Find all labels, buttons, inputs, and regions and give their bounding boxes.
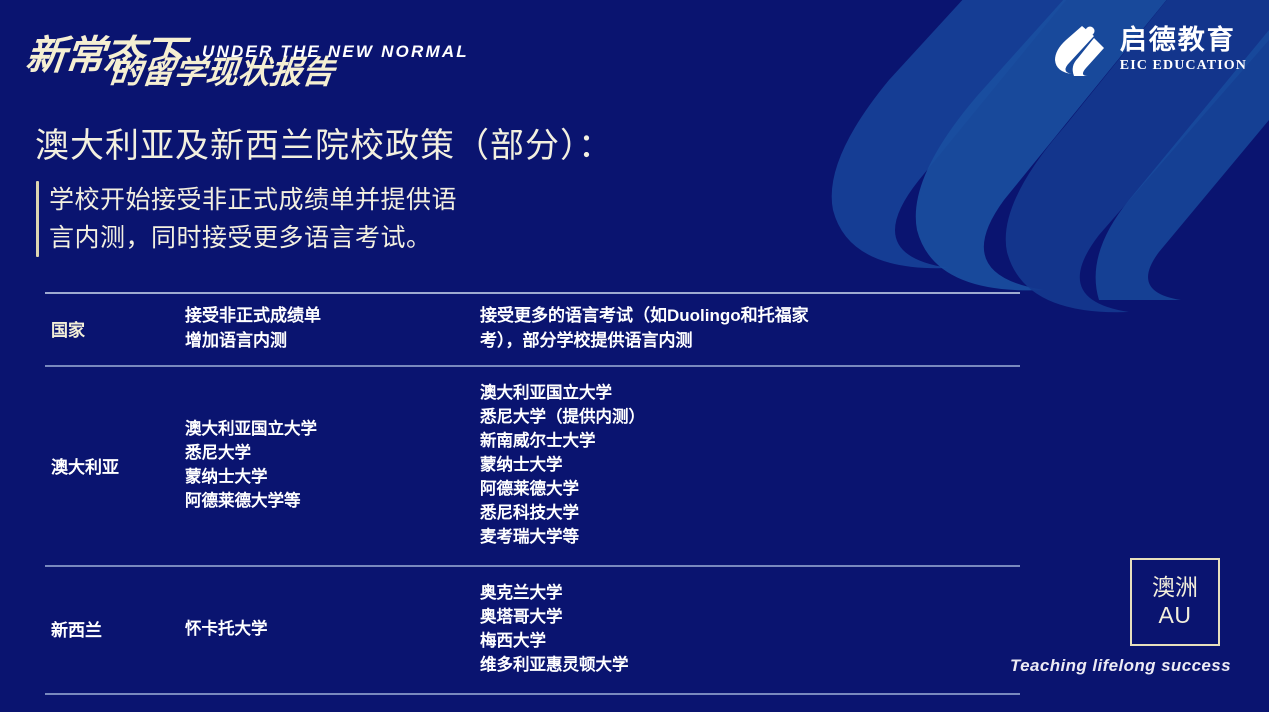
list-item: 维多利亚惠灵顿大学	[480, 653, 1020, 677]
table-rule-bottom	[45, 693, 1020, 695]
page-title: 澳大利亚及新西兰院校政策（部分）：	[35, 118, 613, 167]
brand-logo: 启德教育 EIC EDUCATION	[1052, 22, 1247, 78]
list-item: 奥克兰大学	[480, 581, 1020, 605]
list-item: 麦考瑞大学等	[480, 525, 1020, 549]
table-row: 澳大利亚 澳大利亚国立大学 悉尼大学 蒙纳士大学 阿德莱德大学等 澳大利亚国立大…	[45, 367, 1020, 566]
column-header-informal-transcripts-line2: 增加语言内测	[185, 329, 480, 354]
column-header-informal-transcripts-line1: 接受非正式成绩单	[185, 304, 480, 329]
brand-name-zh: 启德教育	[1120, 27, 1236, 54]
list-item: 澳大利亚国立大学	[480, 381, 1020, 405]
column-header-more-tests: 接受更多的语言考试（如Duolingo和托福家 考），部分学校提供语言内测	[480, 304, 1020, 353]
region-badge-label-en: AU	[1159, 602, 1192, 628]
subtitle-text: 学校开始接受非正式成绩单并提供语 言内测，同时接受更多语言考试。	[49, 181, 457, 257]
cell-informal-transcripts: 怀卡托大学	[185, 617, 480, 641]
banner-en-subtitle: UNDER THE NEW NORMAL	[202, 42, 469, 62]
subtitle-accent-bar	[36, 181, 39, 257]
list-item: 蒙纳士大学	[185, 465, 480, 489]
list-item: 梅西大学	[480, 629, 1020, 653]
cell-country: 新西兰	[45, 616, 185, 641]
column-header-country: 国家	[45, 316, 185, 341]
table-rule-top	[45, 292, 1020, 294]
report-banner-logo: 新常态下 的留学现状报告 UNDER THE NEW NORMAL	[22, 14, 452, 90]
list-item: 怀卡托大学	[185, 617, 480, 641]
cell-more-tests: 澳大利亚国立大学 悉尼大学（提供内测） 新南威尔士大学 蒙纳士大学 阿德莱德大学…	[480, 381, 1020, 550]
slide-root: 新常态下 的留学现状报告 UNDER THE NEW NORMAL 启德教育 E…	[0, 0, 1269, 712]
column-header-more-tests-line1: 接受更多的语言考试（如Duolingo和托福家	[480, 304, 1020, 329]
list-item: 蒙纳士大学	[480, 453, 1020, 477]
table-header-row: 国家 接受非正式成绩单 增加语言内测 接受更多的语言考试（如Duolingo和托…	[45, 294, 1020, 365]
table-rule-under-header	[45, 365, 1020, 367]
list-item: 悉尼大学（提供内测）	[480, 405, 1020, 429]
subtitle-line-2: 言内测，同时接受更多语言考试。	[49, 219, 457, 257]
list-item: 澳大利亚国立大学	[185, 417, 480, 441]
column-header-more-tests-line2: 考），部分学校提供语言内测	[480, 329, 1020, 354]
policy-table: 国家 接受非正式成绩单 增加语言内测 接受更多的语言考试（如Duolingo和托…	[45, 292, 1020, 695]
cell-informal-transcripts: 澳大利亚国立大学 悉尼大学 蒙纳士大学 阿德莱德大学等	[185, 417, 480, 513]
list-item: 悉尼科技大学	[480, 501, 1020, 525]
eic-swoosh-logo-icon	[1052, 22, 1108, 78]
subtitle-line-1: 学校开始接受非正式成绩单并提供语	[49, 181, 457, 219]
cell-more-tests: 奥克兰大学 奥塔哥大学 梅西大学 维多利亚惠灵顿大学	[480, 581, 1020, 677]
list-item: 悉尼大学	[185, 441, 480, 465]
list-item: 阿德莱德大学	[480, 477, 1020, 501]
region-badge-label-zh: 澳洲	[1152, 575, 1198, 600]
brand-wordmark: 启德教育 EIC EDUCATION	[1120, 27, 1247, 73]
table-rule-between-rows	[45, 565, 1020, 567]
subtitle-block: 学校开始接受非正式成绩单并提供语 言内测，同时接受更多语言考试。	[36, 181, 457, 257]
brand-name-en: EIC EDUCATION	[1120, 59, 1247, 73]
region-badge-au: 澳洲 AU	[1130, 558, 1220, 646]
list-item: 阿德莱德大学等	[185, 489, 480, 513]
cell-country: 澳大利亚	[45, 453, 185, 478]
list-item: 新南威尔士大学	[480, 429, 1020, 453]
column-header-informal-transcripts: 接受非正式成绩单 增加语言内测	[185, 304, 480, 353]
list-item: 奥塔哥大学	[480, 605, 1020, 629]
brand-tagline: Teaching lifelong success	[1010, 656, 1231, 676]
table-row: 新西兰 怀卡托大学 奥克兰大学 奥塔哥大学 梅西大学 维多利亚惠灵顿大学	[45, 567, 1020, 693]
